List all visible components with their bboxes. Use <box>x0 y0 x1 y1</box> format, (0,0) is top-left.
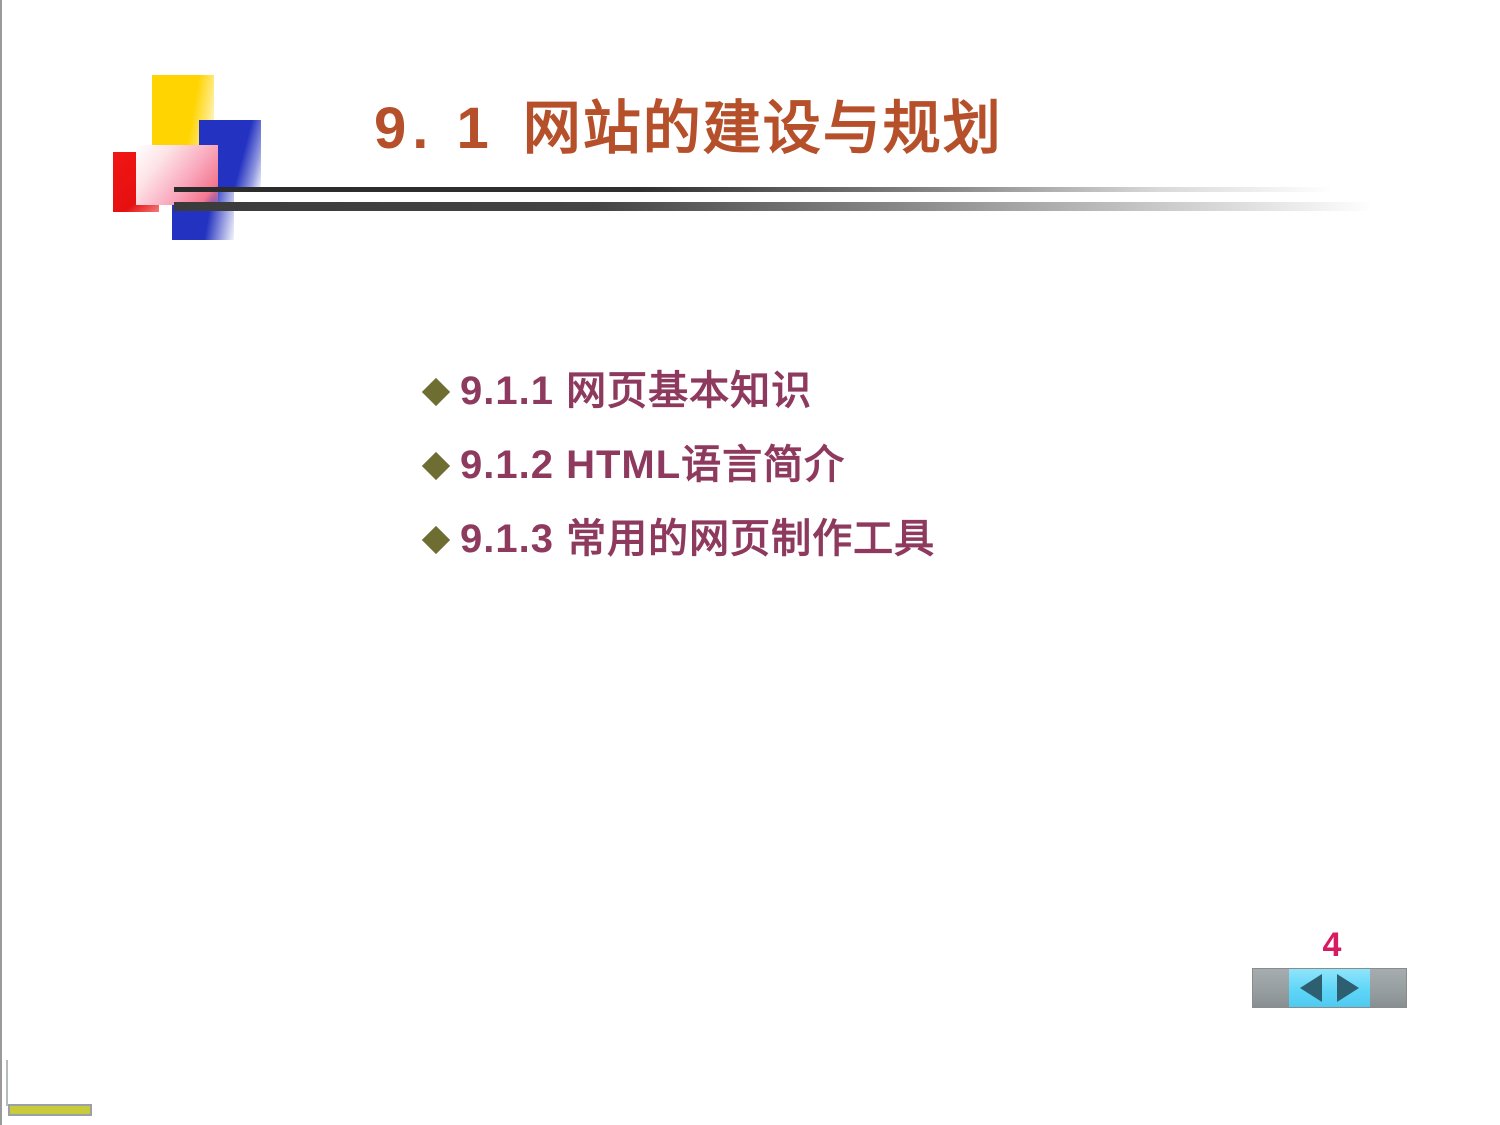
list-item-label: 9.1.2 HTML语言简介 <box>460 440 845 490</box>
header-rule-thick <box>174 202 1374 211</box>
arrow-right-icon <box>1337 974 1359 1002</box>
arrow-left-icon <box>1300 974 1322 1002</box>
agenda-list: 9.1.1 网页基本知识 9.1.2 HTML语言简介 9.1.3 常用的网页制… <box>426 366 1226 588</box>
list-item: 9.1.1 网页基本知识 <box>426 366 1226 416</box>
presentation-slide: 9. 1网站的建设与规划 9.1.1 网页基本知识 9.1.2 HTML语言简介… <box>0 0 1500 1125</box>
previous-slide-button[interactable] <box>1289 969 1330 1007</box>
nav-left-edge <box>1253 969 1289 1007</box>
page-number: 4 <box>1302 926 1362 965</box>
diamond-bullet-icon <box>422 526 450 554</box>
slide-title: 9. 1网站的建设与规划 <box>374 96 1003 163</box>
bottom-left-marker <box>8 1104 92 1116</box>
list-item: 9.1.2 HTML语言简介 <box>426 440 1226 490</box>
list-item-label: 9.1.3 常用的网页制作工具 <box>460 514 935 564</box>
slide-title-text: 网站的建设与规划 <box>523 96 1003 161</box>
decorative-logo-blocks <box>106 62 306 252</box>
pink-gradient-rectangle-icon <box>136 145 218 205</box>
header-rule-thin <box>174 187 1334 192</box>
list-item: 9.1.3 常用的网页制作工具 <box>426 514 1226 564</box>
list-item-label: 9.1.1 网页基本知识 <box>460 366 812 416</box>
next-slide-button[interactable] <box>1330 969 1371 1007</box>
nav-right-edge <box>1370 969 1406 1007</box>
slide-navigation-bar[interactable] <box>1252 968 1407 1008</box>
bottom-marker-stem <box>6 1060 8 1106</box>
diamond-bullet-icon <box>422 378 450 406</box>
diamond-bullet-icon <box>422 452 450 480</box>
slide-title-number: 9. 1 <box>374 96 495 161</box>
